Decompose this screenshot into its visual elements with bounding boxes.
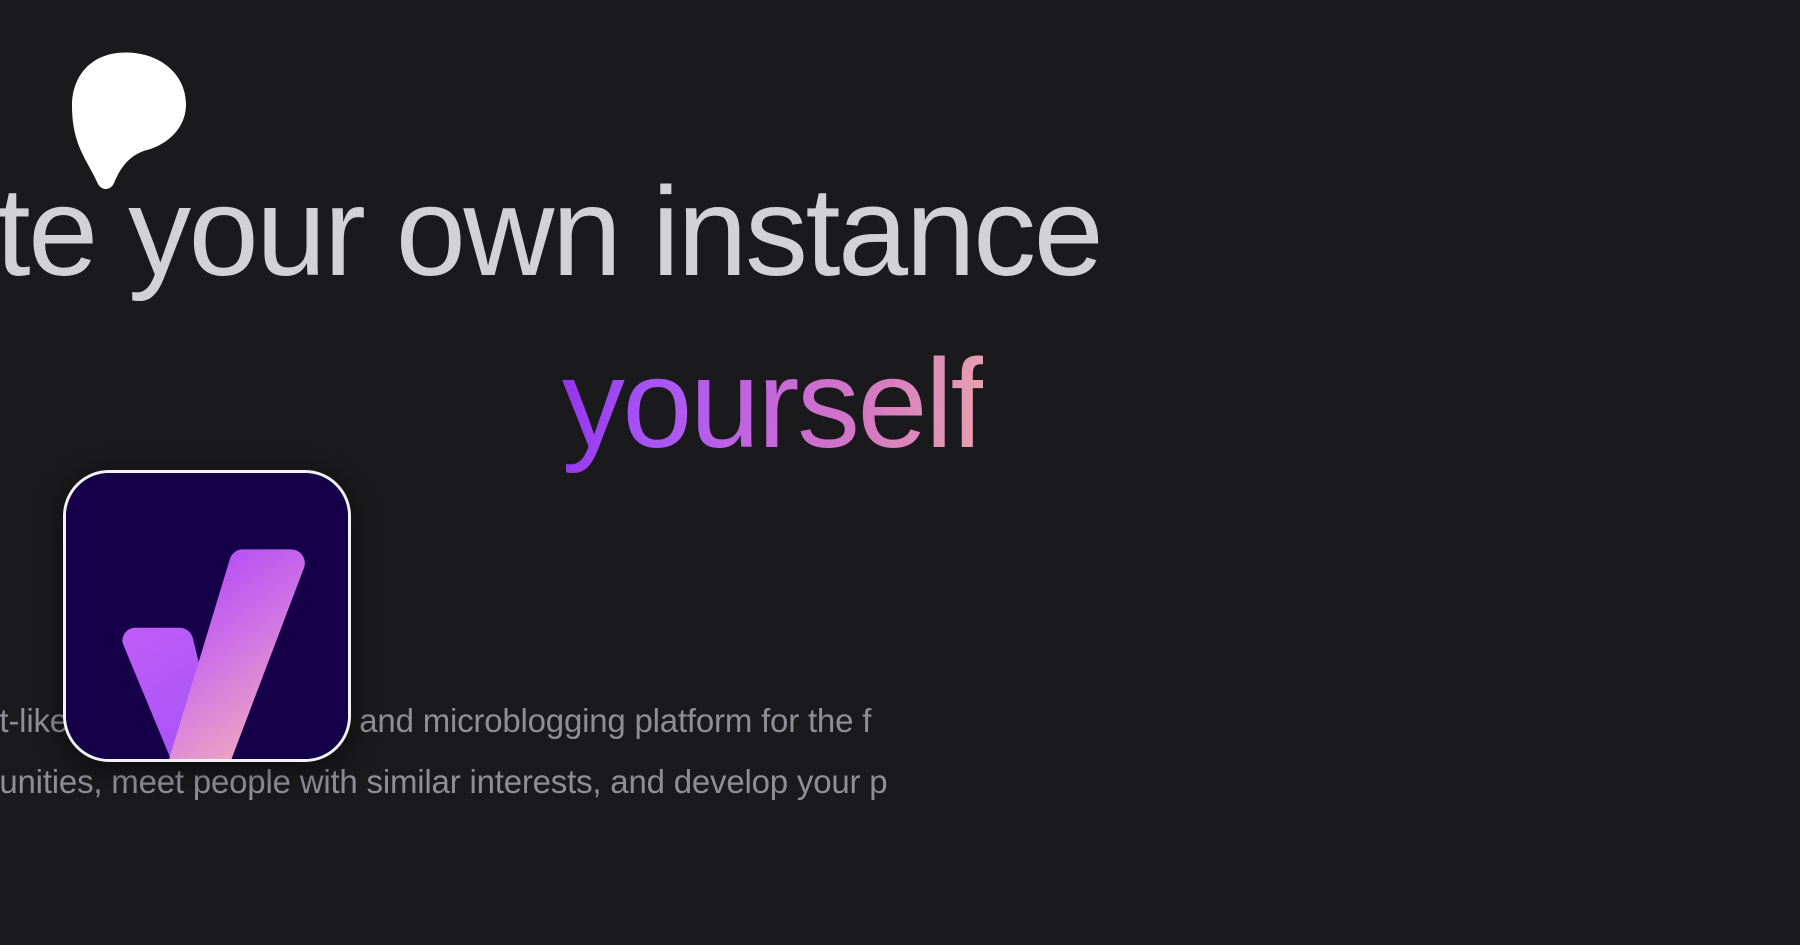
app-icon-tile[interactable] — [63, 470, 351, 762]
page-title-line-2: yourself — [0, 340, 1545, 469]
page-title-accent-word: yourself — [562, 333, 983, 474]
page-title-line-1: ate your own instance — [0, 168, 1800, 297]
page-canvas: ate your own instance yourself ope t-lik… — [0, 0, 1800, 945]
